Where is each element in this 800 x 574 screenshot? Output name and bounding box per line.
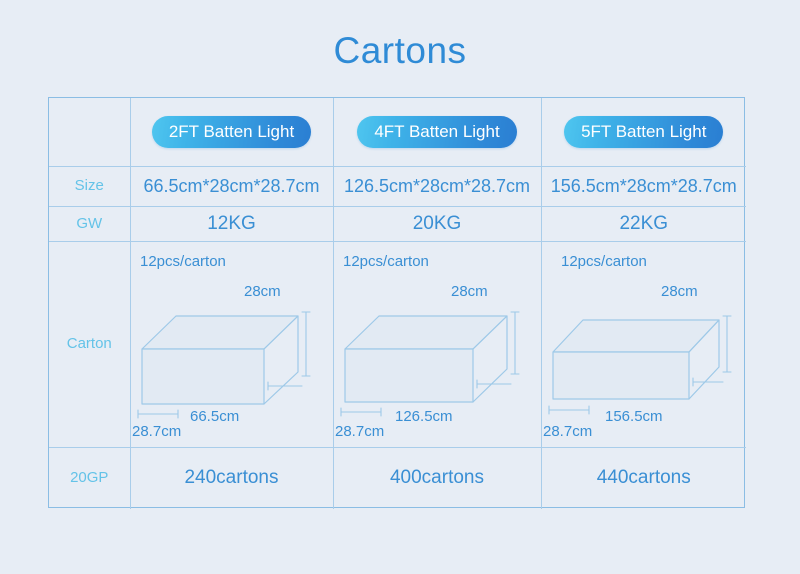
gw-value-col2: 20KG [333,206,541,241]
carton-diagram-col3: 12pcs/carton 28cm 156.5cm 28.7cm [541,241,746,447]
header-cell-col1: 2FT Batten Light [130,98,333,166]
table-row-header: 2FT Batten Light 4FT Batten Light 5FT Ba… [49,98,746,166]
height-dimension-line-2ft [302,312,310,376]
size-value-col2: 126.5cm*28cm*28.7cm [333,166,541,206]
box-front-face-2ft [142,349,264,404]
gw-text-2ft: 12KG [207,213,256,234]
row-label-size-cell: Size [49,166,130,206]
page-title: Cartons [0,30,800,72]
carton-box-illustration-2ft: 12pcs/carton 28cm 66.5cm [132,244,332,444]
header-cell-col3: 5FT Batten Light [541,98,746,166]
height-dimension-line-5ft [723,316,731,372]
product-badge-2ft[interactable]: 2FT Batten Light [152,116,311,148]
depth-label-4ft: 28.7cm [335,423,384,440]
row-label-gw: GW [76,215,102,232]
row-label-20gp: 20GP [70,469,108,486]
length-dimension-line-2ft [268,382,302,390]
size-value-col3: 156.5cm*28cm*28.7cm [541,166,746,206]
box-front-face-4ft [345,349,473,402]
cartons-spec-table: 2FT Batten Light 4FT Batten Light 5FT Ba… [48,97,745,508]
header-corner-cell [49,98,130,166]
row-label-carton-cell: Carton [49,241,130,447]
gw-text-4ft: 20KG [413,213,462,234]
carton-diagram-col2: 12pcs/carton 28cm 126.5cm 28.7cm [333,241,541,447]
gw-value-col1: 12KG [130,206,333,241]
depth-dimension-line-4ft [341,408,381,416]
box-top-face-4ft [345,316,507,349]
row-label-20gp-cell: 20GP [49,447,130,509]
gp20-text-5ft: 440cartons [597,467,691,488]
depth-dimension-line-2ft [138,410,178,418]
length-label-4ft: 126.5cm [395,408,453,425]
depth-label-2ft: 28.7cm [132,423,181,440]
gp20-value-col3: 440cartons [541,447,746,509]
box-front-face-5ft [553,352,689,399]
height-label-5ft: 28cm [661,283,698,300]
gp20-text-2ft: 240cartons [184,467,278,488]
table-row-20gp: 20GP 240cartons 400cartons 440cartons [49,447,746,509]
size-text-5ft: 156.5cm*28cm*28.7cm [551,176,737,196]
pcs-per-carton-label-2ft: 12pcs/carton [140,253,226,270]
size-text-4ft: 126.5cm*28cm*28.7cm [344,176,530,196]
depth-label-5ft: 28.7cm [543,423,592,440]
size-value-col1: 66.5cm*28cm*28.7cm [130,166,333,206]
box-top-face-2ft [142,316,298,349]
depth-dimension-line-5ft [549,406,589,414]
product-badge-4ft[interactable]: 4FT Batten Light [357,116,516,148]
cartons-spec-page: Cartons 2FT Batten Light 4FT Batten Ligh… [0,0,800,574]
gp20-value-col1: 240cartons [130,447,333,509]
carton-diagram-col1: 12pcs/carton 28cm 66.5cm [130,241,333,447]
size-text-2ft: 66.5cm*28cm*28.7cm [143,176,319,196]
length-label-5ft: 156.5cm [605,408,663,425]
length-label-2ft: 66.5cm [190,408,239,425]
gp20-text-4ft: 400cartons [390,467,484,488]
row-label-gw-cell: GW [49,206,130,241]
carton-box-illustration-5ft: 12pcs/carton 28cm 156.5cm 28.7cm [543,244,745,444]
table-row-carton: Carton 12pcs/carton 28cm [49,241,746,447]
product-badge-5ft[interactable]: 5FT Batten Light [564,116,723,148]
table-row-size: Size 66.5cm*28cm*28.7cm 126.5cm*28cm*28.… [49,166,746,206]
pcs-per-carton-label-5ft: 12pcs/carton [561,253,647,270]
gw-value-col3: 22KG [541,206,746,241]
table-row-gw: GW 12KG 20KG 22KG [49,206,746,241]
row-label-size: Size [75,177,104,194]
height-dimension-line-4ft [511,312,519,374]
row-label-carton: Carton [67,335,112,352]
carton-box-illustration-4ft: 12pcs/carton 28cm 126.5cm 28.7cm [335,244,540,444]
pcs-per-carton-label-4ft: 12pcs/carton [343,253,429,270]
gp20-value-col2: 400cartons [333,447,541,509]
gw-text-5ft: 22KG [619,213,668,234]
height-label-2ft: 28cm [244,283,281,300]
header-cell-col2: 4FT Batten Light [333,98,541,166]
height-label-4ft: 28cm [451,283,488,300]
